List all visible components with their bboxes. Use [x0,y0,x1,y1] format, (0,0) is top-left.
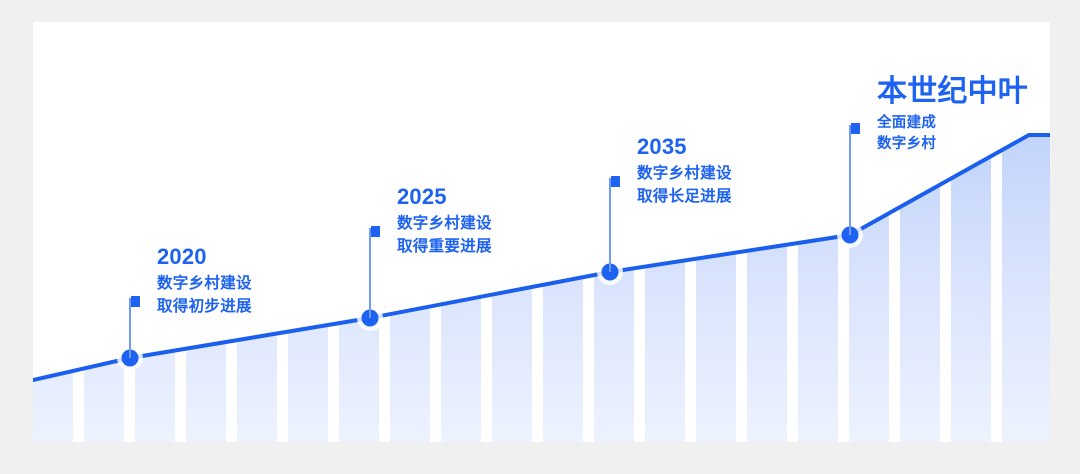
infographic-root: 2020 数字乡村建设 取得初步进展 2025 数字乡村建设 取得重要进展 [0,0,1080,474]
timeline-area-chart [33,22,1050,442]
marker-dot-2035 [597,259,623,285]
area-fill [33,135,1050,442]
marker-dot-2025 [357,305,383,331]
marker-dot-mid-century [837,222,863,248]
marker-dot-2020 [117,345,143,371]
chart-card: 2020 数字乡村建设 取得初步进展 2025 数字乡村建设 取得重要进展 [33,22,1050,442]
